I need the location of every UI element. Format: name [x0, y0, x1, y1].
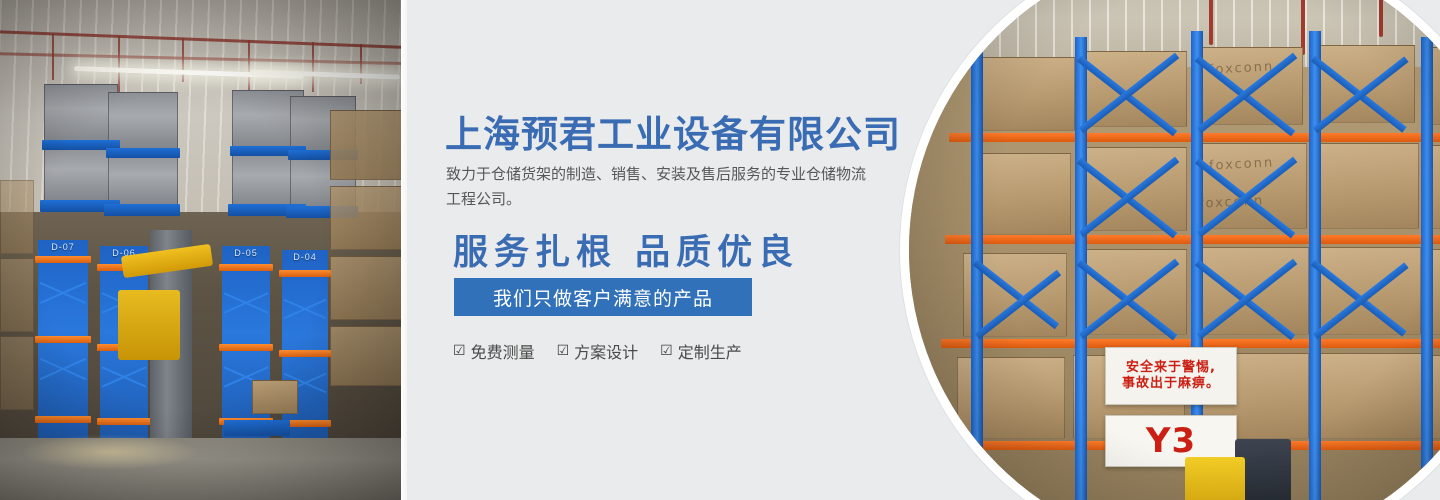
- right-warehouse-photo-circle: foxconn foxconn foxconn: [900, 0, 1440, 500]
- checkbox-check-icon: ☑: [660, 344, 673, 358]
- company-slogan: 服务扎根 品质优良: [453, 224, 799, 275]
- company-subtitle: 致力于仓储货架的制造、销售、安装及售后服务的专业仓储物流工程公司。: [446, 162, 866, 212]
- feature-item-custom-production: ☑ 定制生产: [660, 339, 742, 363]
- panel-left-edge: [401, 0, 407, 500]
- feature-item-free-measure: ☑ 免费测量: [453, 339, 535, 363]
- left-photo-scene: D-07 D-06 D-05: [0, 0, 401, 500]
- checkbox-check-icon: ☑: [453, 344, 466, 358]
- feature-label: 方案设计: [574, 339, 638, 363]
- left-warehouse-photo: D-07 D-06 D-05: [0, 0, 401, 500]
- hero-banner: D-07 D-06 D-05: [0, 0, 1440, 500]
- checkbox-check-icon: ☑: [557, 344, 570, 358]
- cta-button[interactable]: 我们只做客户满意的产品: [454, 278, 752, 316]
- company-headline: 上海预君工业设备有限公司: [445, 104, 901, 158]
- photo-vignette: [909, 0, 1440, 500]
- feature-list: ☑ 免费测量 ☑ 方案设计 ☑ 定制生产: [453, 339, 742, 363]
- right-photo-scene: foxconn foxconn foxconn: [909, 0, 1440, 500]
- feature-label: 定制生产: [678, 339, 742, 363]
- feature-item-plan-design: ☑ 方案设计: [557, 339, 639, 363]
- photo-vignette: [0, 0, 401, 500]
- feature-label: 免费测量: [471, 339, 535, 363]
